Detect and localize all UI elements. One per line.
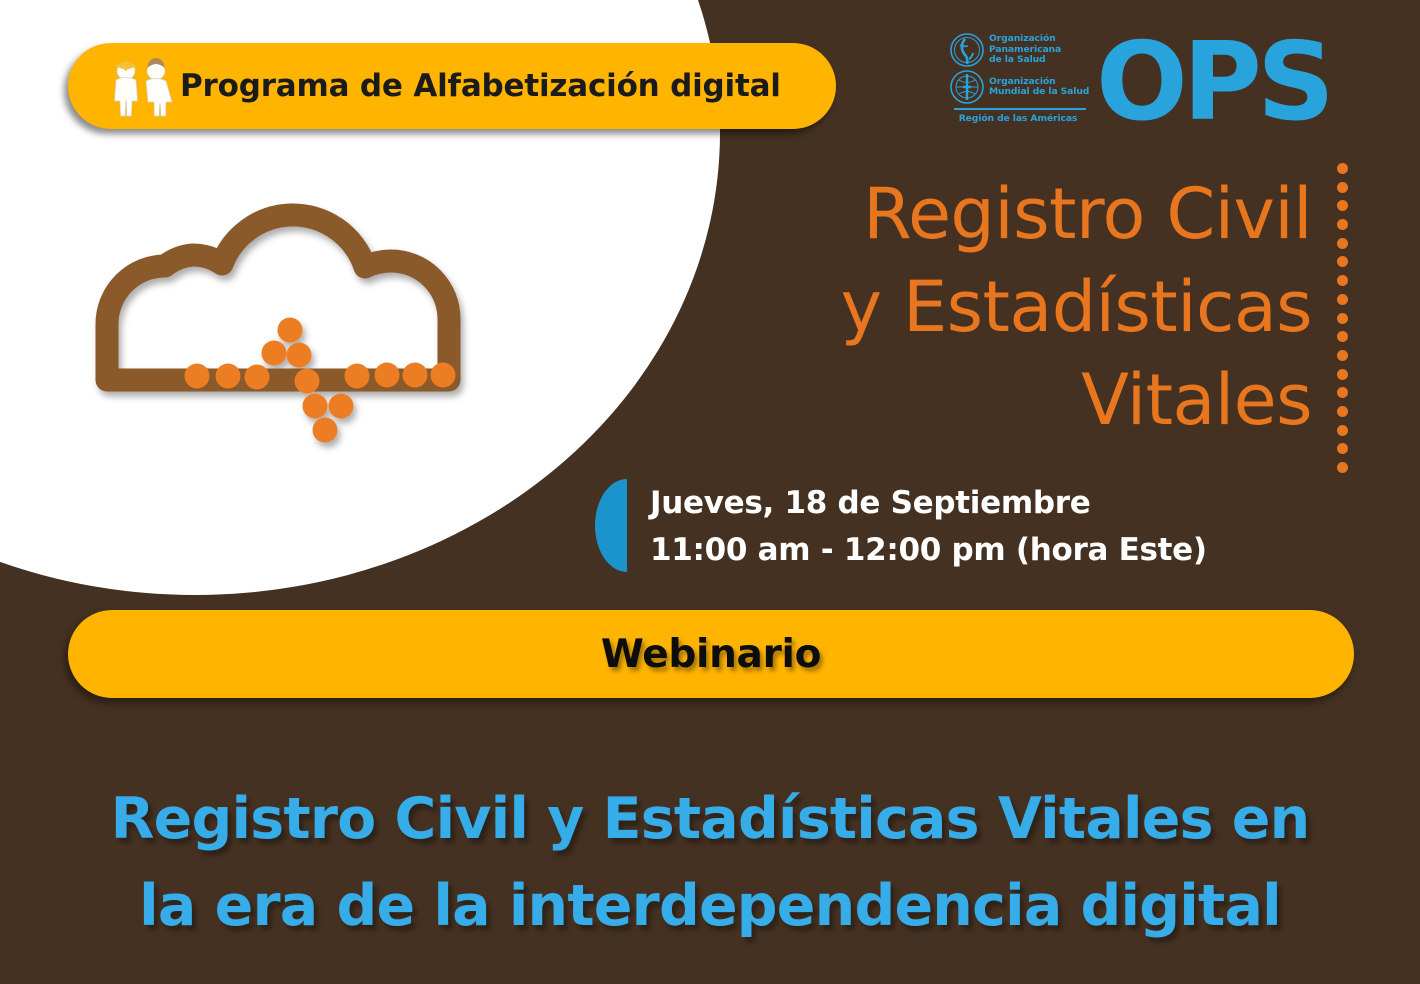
webinar-poster: Programa de Alfabetización digital: [0, 0, 1420, 984]
rail-dot: [1337, 331, 1348, 342]
rail-dot: [1337, 443, 1348, 454]
logo-region-label: Región de las Américas: [950, 113, 1086, 124]
headline-line-1: Registro Civil: [612, 168, 1312, 261]
paho-seal-icon: [950, 33, 984, 67]
paho-row: Organización Panamericana de la Salud: [950, 33, 1090, 67]
event-time: 11:00 am - 12:00 pm (hora Este): [650, 527, 1207, 574]
rail-dot: [1337, 406, 1348, 417]
cloud-with-pulse-illustration: [85, 168, 515, 478]
rail-dot: [1337, 163, 1348, 174]
rail-dot: [1337, 313, 1348, 324]
rail-dot: [1337, 350, 1348, 361]
ops-logo-emblem-block: Organización Panamericana de la Salud Or…: [950, 33, 1090, 143]
rail-dot: [1337, 425, 1348, 436]
who-row: Organización Mundial de la Salud: [950, 70, 1090, 104]
headline-line-3: Vitales: [612, 354, 1312, 447]
rail-dot: [1337, 275, 1348, 286]
event-datetime: Jueves, 18 de Septiembre 11:00 am - 12:0…: [650, 480, 1207, 574]
half-circle-accent: [595, 479, 627, 572]
subtitle-line-2: la era de la interdependencia digital: [0, 863, 1420, 950]
webinar-banner[interactable]: Webinario: [68, 610, 1354, 698]
rail-dot: [1337, 182, 1348, 193]
rail-dot: [1337, 294, 1348, 305]
webinar-banner-label: Webinario: [601, 632, 821, 677]
event-headline: Registro Civil y Estadísticas Vitales: [612, 168, 1312, 447]
rail-dot: [1337, 369, 1348, 380]
event-subtitle: Registro Civil y Estadísticas Vitales en…: [0, 776, 1420, 950]
subtitle-line-1: Registro Civil y Estadísticas Vitales en: [0, 776, 1420, 863]
ops-logo: Organización Panamericana de la Salud Or…: [950, 28, 1350, 148]
two-people-graduate-icon: [102, 55, 178, 119]
rail-dot: [1337, 200, 1348, 211]
event-date: Jueves, 18 de Septiembre: [650, 480, 1207, 527]
paho-org-name: Organización Panamericana de la Salud: [989, 34, 1061, 66]
ops-wordmark: OPS: [1096, 29, 1330, 137]
rail-dot: [1337, 219, 1348, 230]
rail-dot: [1337, 238, 1348, 249]
logo-divider: [954, 108, 1086, 110]
rail-dot: [1337, 462, 1348, 473]
headline-line-2: y Estadísticas: [612, 261, 1312, 354]
rail-dot: [1337, 256, 1348, 267]
program-badge-label: Programa de Alfabetización digital: [180, 68, 781, 104]
who-org-name: Organización Mundial de la Salud: [989, 77, 1089, 98]
orange-dot-rail: [1335, 163, 1349, 473]
program-badge[interactable]: Programa de Alfabetización digital: [68, 43, 836, 129]
who-seal-icon: [950, 70, 984, 104]
rail-dot: [1337, 387, 1348, 398]
